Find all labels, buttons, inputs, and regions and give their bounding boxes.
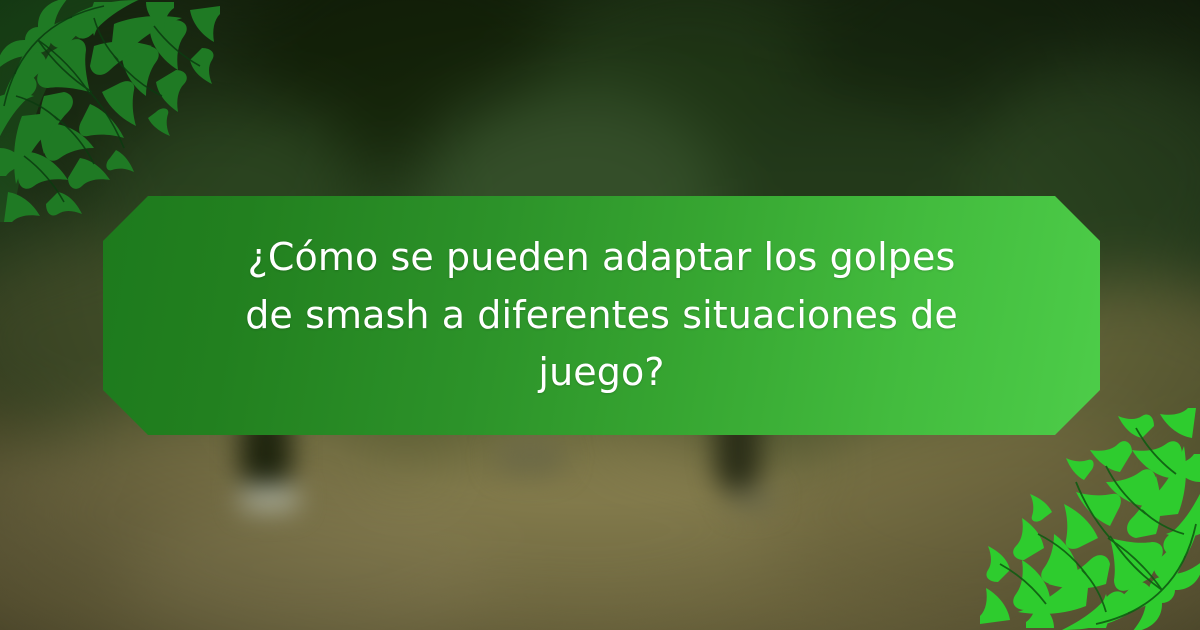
quote-card: ¿Cómo se pueden adaptar los golpes de sm… <box>0 0 1200 630</box>
page-title: ¿Cómo se pueden adaptar los golpes de sm… <box>158 229 1046 402</box>
headline-banner: ¿Cómo se pueden adaptar los golpes de sm… <box>103 196 1100 435</box>
